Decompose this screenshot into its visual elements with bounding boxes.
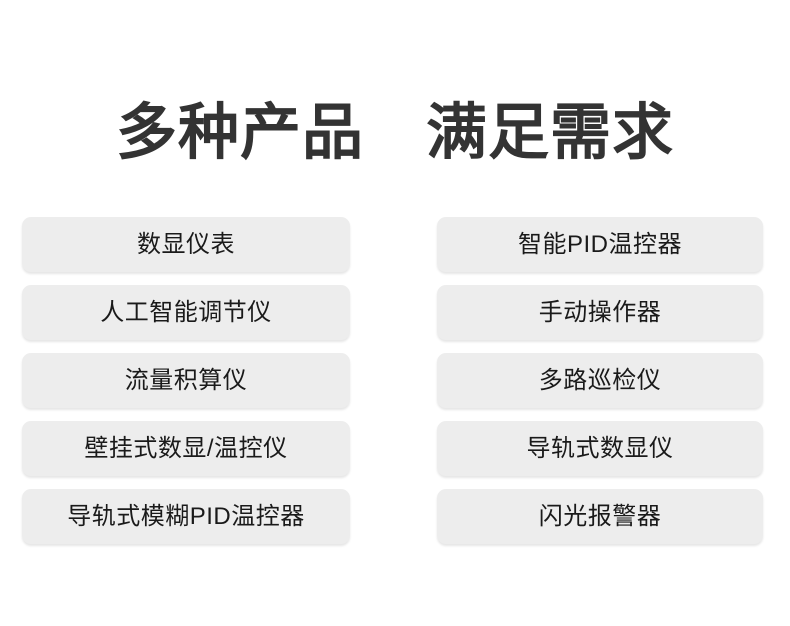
product-showcase-page: 多种产品 满足需求 数显仪表 人工智能调节仪 流量积算仪 壁挂式数显/温控仪 导…	[0, 0, 790, 626]
product-item-label: 导轨式模糊PID温控器	[67, 505, 305, 529]
product-item-label: 导轨式数显仪	[527, 437, 674, 461]
product-item-label: 多路巡检仪	[539, 369, 662, 393]
page-title: 多种产品 满足需求	[116, 97, 674, 167]
product-item-label: 人工智能调节仪	[100, 301, 272, 325]
product-item-label: 壁挂式数显/温控仪	[84, 437, 287, 461]
product-item-shoudongcaozuoqi[interactable]: 手动操作器	[437, 285, 763, 340]
product-item-daoguishishuxianyi[interactable]: 导轨式数显仪	[437, 421, 763, 476]
product-item-label: 数显仪表	[137, 233, 235, 257]
product-item-shanguangbaojingqi[interactable]: 闪光报警器	[437, 489, 763, 544]
page-title-container: 多种产品 满足需求	[0, 56, 790, 208]
product-item-biguashishuxian-wenkongyi[interactable]: 壁挂式数显/温控仪	[22, 421, 350, 476]
product-item-zhinengpid-wenkongqi[interactable]: 智能PID温控器	[437, 217, 763, 272]
product-column-right: 智能PID温控器 手动操作器 多路巡检仪 导轨式数显仪 闪光报警器	[437, 217, 763, 544]
product-item-shuxianyibiao[interactable]: 数显仪表	[22, 217, 350, 272]
product-item-label: 流量积算仪	[125, 369, 248, 393]
product-item-rengongzhinengtiaojieyi[interactable]: 人工智能调节仪	[22, 285, 350, 340]
product-item-label: 智能PID温控器	[518, 233, 682, 257]
product-item-label: 闪光报警器	[539, 505, 662, 529]
product-item-daoguishimohupid-wenkongqi[interactable]: 导轨式模糊PID温控器	[22, 489, 350, 544]
product-item-duoluxunjianyi[interactable]: 多路巡检仪	[437, 353, 763, 408]
product-item-label: 手动操作器	[539, 301, 662, 325]
product-item-liuliangjisuanyi[interactable]: 流量积算仪	[22, 353, 350, 408]
product-columns: 数显仪表 人工智能调节仪 流量积算仪 壁挂式数显/温控仪 导轨式模糊PID温控器…	[0, 217, 790, 544]
product-column-left: 数显仪表 人工智能调节仪 流量积算仪 壁挂式数显/温控仪 导轨式模糊PID温控器	[22, 217, 350, 544]
